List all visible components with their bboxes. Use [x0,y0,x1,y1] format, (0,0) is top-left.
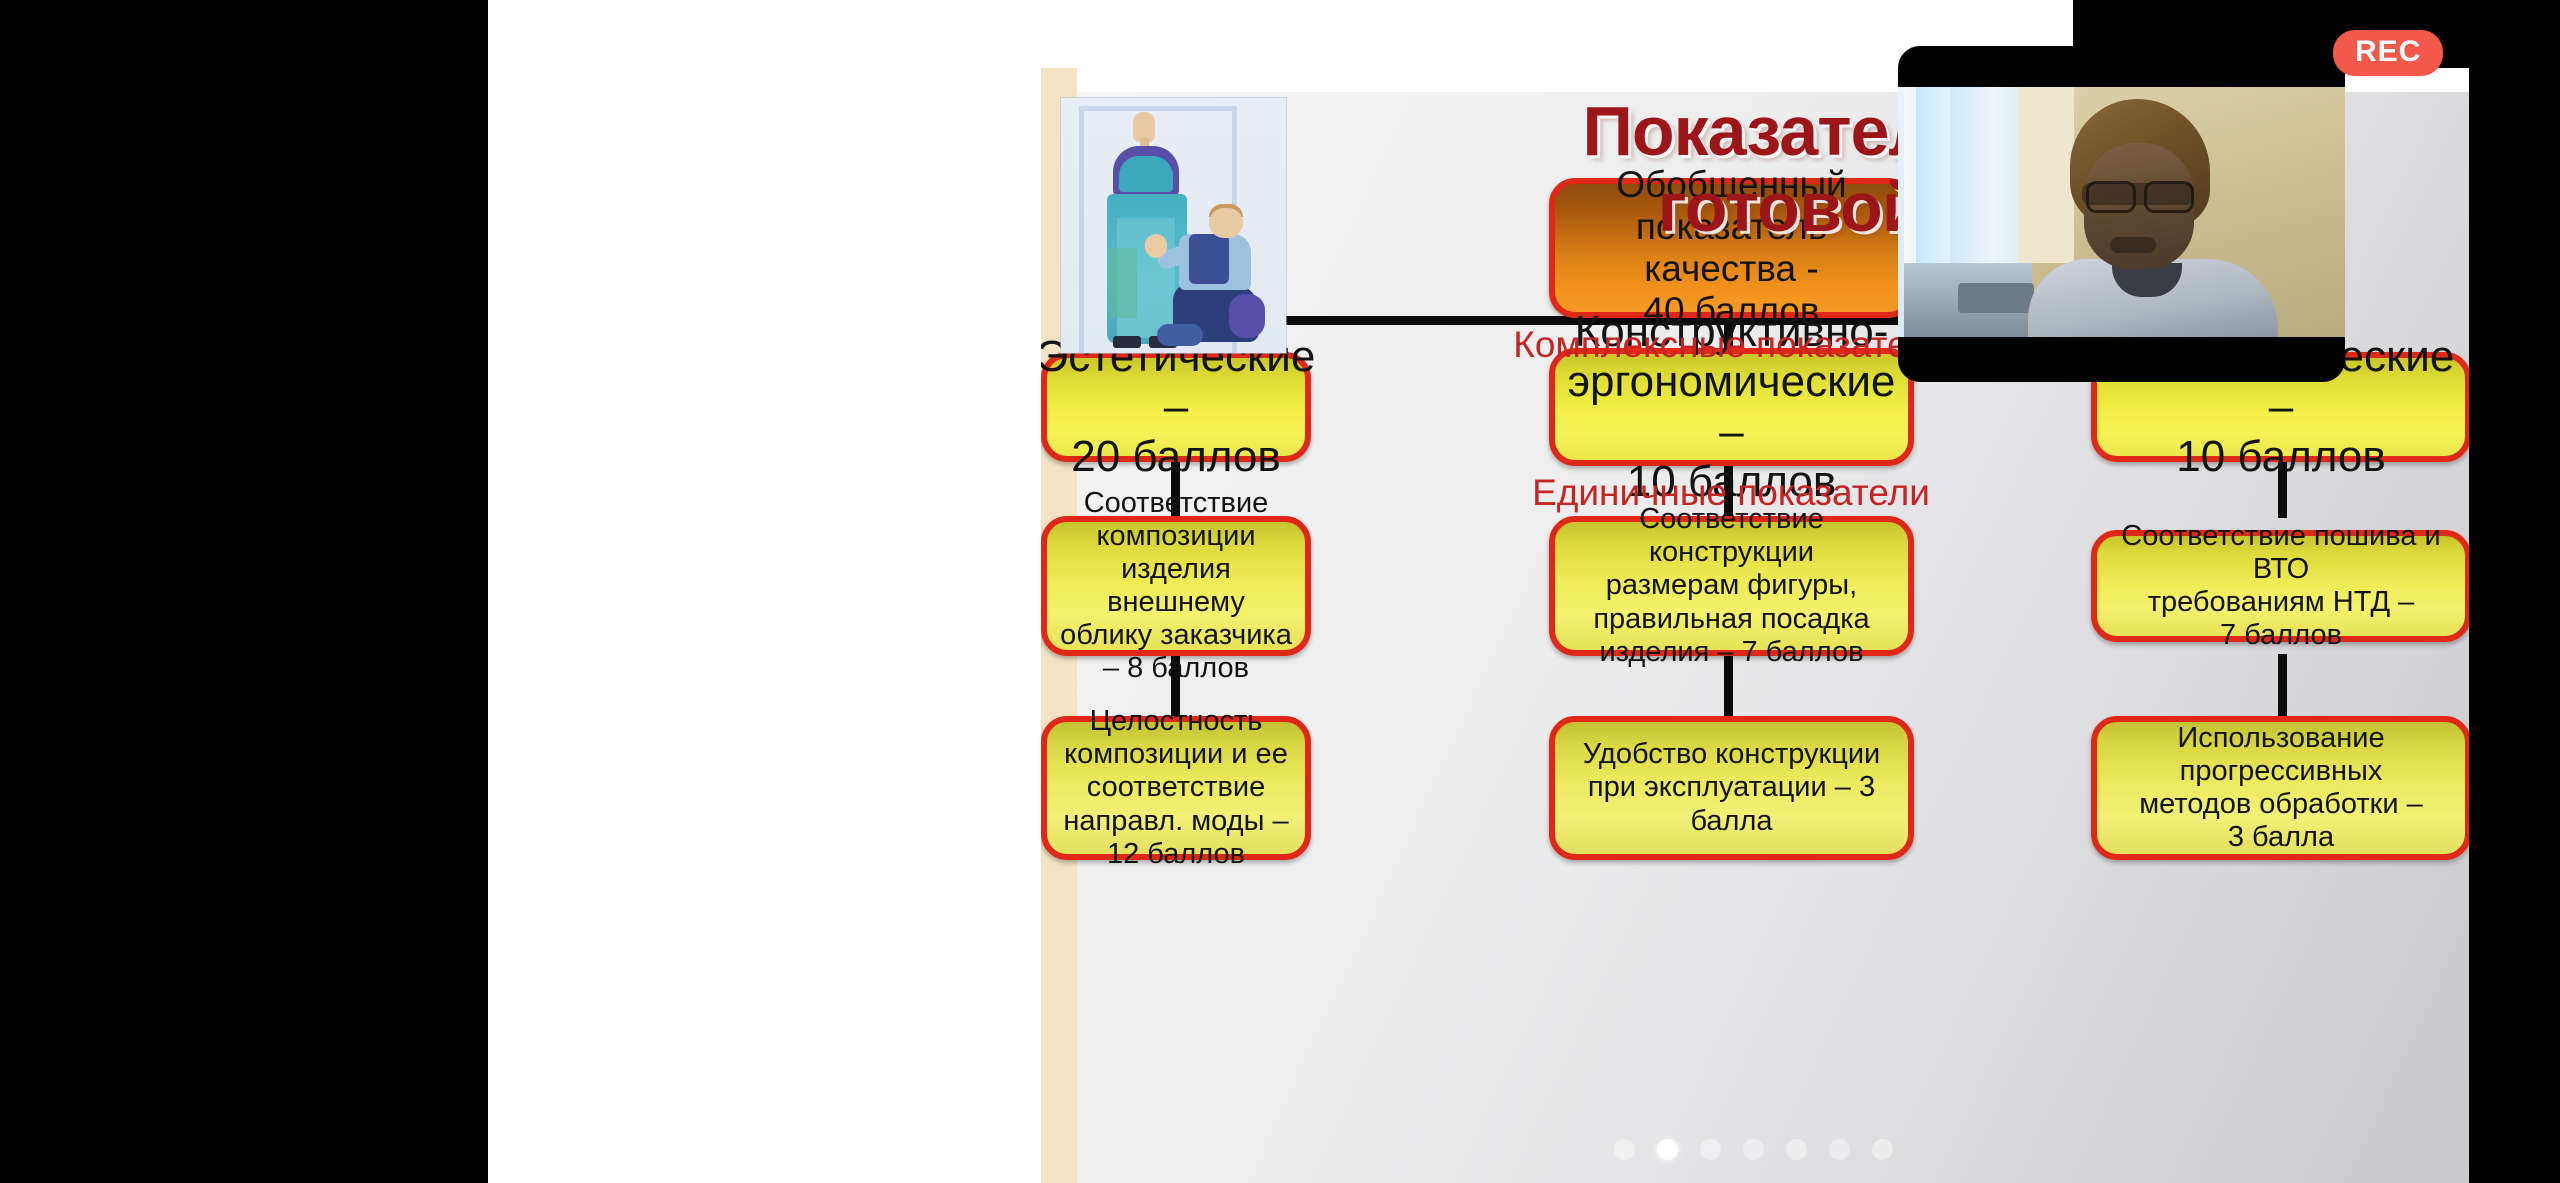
node-line: 3 балла [2133,821,2429,854]
carousel-dot[interactable] [1872,1139,1893,1160]
node-line: изделия внешнему [1047,553,1305,619]
carousel-dot[interactable] [1786,1139,1807,1160]
node-line: композиции [1047,520,1305,553]
node-line: Соответствие пошива и ВТО [2097,520,2465,586]
node-composition-appearance-match[interactable]: Соответствие композиции изделия внешнему… [1041,516,1311,656]
node-line: Соответствие [1047,487,1305,520]
node-line: при эксплуатации – 3 балла [1555,771,1908,837]
carousel-dot-active[interactable] [1657,1139,1678,1160]
node-line: размерам фигуры, [1555,569,1908,602]
node-line: правильная посадка [1555,603,1908,636]
node-composition-integrity-fashion[interactable]: Целостность композиции и ее соответствие… [1041,716,1311,860]
node-sewing-wto-ntd-match[interactable]: Соответствие пошива и ВТО требованиям НТ… [2091,530,2469,642]
node-line: эргономические – [1555,357,1908,457]
carousel-dot[interactable] [1614,1139,1635,1160]
node-aesthetic-indicators[interactable]: Эстетические – 20 баллов [1041,352,1311,462]
node-line: 10 баллов [2097,432,2465,482]
node-progressive-processing-methods[interactable]: Использование прогрессивных методов обра… [2091,716,2469,860]
recording-status-badge: REC [2333,30,2443,76]
node-line: методов обработки – [2133,788,2429,821]
screen: Показатели качества готовой одежды Обобщ… [0,0,2560,1183]
caption-unit-indicators: Единичные показатели [1441,472,2021,514]
node-line: качества - [1610,248,1852,290]
node-line: соответствие [1047,771,1305,804]
slide-canvas: Показатели качества готовой одежды Обобщ… [488,0,2073,1183]
node-line: Удобство конструкции [1555,738,1908,771]
carousel-dot[interactable] [1743,1139,1764,1160]
node-line: композиции и ее [1047,738,1305,771]
node-construction-size-fit-match[interactable]: Соответствие конструкции размерам фигуры… [1549,516,1914,656]
node-line: Целостность [1047,705,1305,738]
connector-l2-l3-col3 [2278,654,2287,718]
node-line: 7 баллов [2097,619,2465,652]
node-line: Использование [2133,722,2429,755]
node-line: 20 баллов [1041,432,1321,482]
node-line: требованиям НТД – [2097,586,2465,619]
node-line: направл. моды – 12 баллов [1047,805,1305,871]
node-line: изделия – 7 баллов [1555,636,1908,669]
webcam-panel[interactable] [1898,46,2345,382]
carousel-dot[interactable] [1829,1139,1850,1160]
node-construction-usage-comfort[interactable]: Удобство конструкции при эксплуатации – … [1549,716,1914,860]
tailor-fitting-illustration [1061,98,1286,353]
webcam-video-feed [1898,87,2345,337]
slide-carousel-dots[interactable] [1614,1139,1893,1160]
carousel-dot[interactable] [1700,1139,1721,1160]
node-line: облику заказчика – 8 баллов [1047,619,1305,685]
node-line: прогрессивных [2133,755,2429,788]
